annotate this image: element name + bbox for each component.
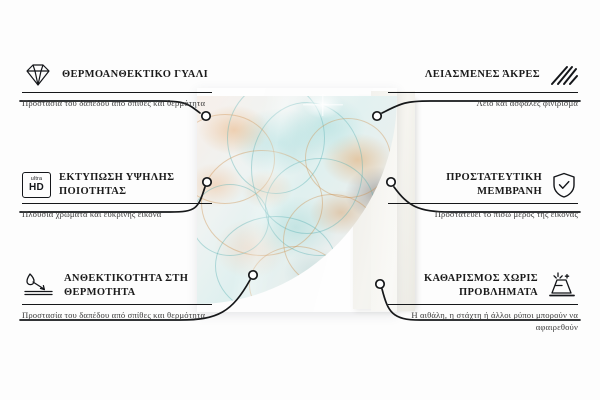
feature-header: ΑΝΘΕΚΤΙΚΟΤΗΤΑ ΣΤΗ ΘΕΡΜΟΤΗΤΑ <box>22 272 212 300</box>
badge-hd-label: HD <box>29 183 44 193</box>
feature-subtitle: Προστασία του δαπέδου από σπίθες και θερ… <box>22 310 212 322</box>
feature-title: ΛΕΙΑΣΜΕΝΕΣ ΆΚΡΕΣ <box>425 68 540 82</box>
polished-edges-icon <box>548 62 578 88</box>
feature-title: ΑΝΘΕΚΤΙΚΟΤΗΤΑ ΣΤΗ ΘΕΡΜΟΤΗΤΑ <box>64 272 212 300</box>
feature-subtitle: Προστατεύει το πίσω μέρος της εικόνας <box>388 209 578 221</box>
easy-cleaning-icon <box>546 272 578 300</box>
feature-polished-edges: ΛΕΙΑΣΜΕΝΕΣ ΆΚΡΕΣ Λείο και ασφαλές φινίρι… <box>388 62 578 110</box>
feature-heat-resistance: ΑΝΘΕΚΤΙΚΟΤΗΤΑ ΣΤΗ ΘΕΡΜΟΤΗΤΑ Προστασία το… <box>22 272 212 322</box>
feature-subtitle: Λείο και ασφαλές φινίρισμα <box>388 98 578 110</box>
shield-check-icon <box>550 171 578 199</box>
feature-high-quality-print: ultra HD ΕΚΤΥΠΩΣΗ ΥΨΗΛΗΣ ΠΟΙΟΤΗΤΑΣ Πλούσ… <box>22 171 212 220</box>
connector-dot-left-3 <box>249 271 257 279</box>
connector-dot-right-3 <box>376 280 384 288</box>
feature-header: ultra HD ΕΚΤΥΠΩΣΗ ΥΨΗΛΗΣ ΠΟΙΟΤΗΤΑΣ <box>22 171 212 199</box>
feature-heat-resistant-glass: ΘΕΡΜΟΑΝΘΕΚΤΙΚΟ ΓΥΑΛΙ Προστασία του δαπέδ… <box>22 62 212 110</box>
feature-header: ΠΡΟΣΤΑΤΕΥΤΙΚΗ ΜΕΜΒΡΑΝΗ <box>388 171 578 199</box>
feature-header: ΚΑΘΑΡΙΣΜΟΣ ΧΩΡΙΣ ΠΡΟΒΛΗΜΑΤΑ <box>388 272 578 300</box>
connector-dot-left-1 <box>202 112 210 120</box>
feature-divider <box>388 304 578 305</box>
feature-header: ΛΕΙΑΣΜΕΝΕΣ ΆΚΡΕΣ <box>388 62 578 88</box>
feature-divider <box>22 203 212 204</box>
feature-subtitle: Πλούσια χρώματα και ευκρινής εικόνα <box>22 209 212 221</box>
feature-divider <box>388 203 578 204</box>
feature-title: ΕΚΤΥΠΩΣΗ ΥΨΗΛΗΣ ΠΟΙΟΤΗΤΑΣ <box>59 171 212 199</box>
feature-subtitle: Προστασία του δαπέδου από σπίθες και θερ… <box>22 98 212 110</box>
feature-title: ΚΑΘΑΡΙΣΜΟΣ ΧΩΡΙΣ ΠΡΟΒΛΗΜΑΤΑ <box>388 272 538 300</box>
diamond-icon <box>22 62 54 88</box>
feature-subtitle: Η αιθάλη, η στάχτη ή άλλοι ρύποι μπορούν… <box>388 310 578 333</box>
feature-title: ΘΕΡΜΟΑΝΘΕΚΤΙΚΟ ΓΥΑΛΙ <box>62 68 208 82</box>
feature-title: ΠΡΟΣΤΑΤΕΥΤΙΚΗ ΜΕΜΒΡΑΝΗ <box>388 171 542 199</box>
feature-divider <box>22 304 212 305</box>
feature-protective-membrane: ΠΡΟΣΤΑΤΕΥΤΙΚΗ ΜΕΜΒΡΑΝΗ Προστατεύει το πί… <box>388 171 578 221</box>
heat-resistance-icon <box>22 272 56 300</box>
feature-divider <box>388 92 578 93</box>
connector-dot-right-1 <box>373 112 381 120</box>
ultra-hd-badge-icon: ultra HD <box>22 172 51 198</box>
infographic-canvas: ΘΕΡΜΟΑΝΘΕΚΤΙΚΟ ΓΥΑΛΙ Προστασία του δαπέδ… <box>0 0 600 400</box>
feature-divider <box>22 92 212 93</box>
feature-header: ΘΕΡΜΟΑΝΘΕΚΤΙΚΟ ΓΥΑΛΙ <box>22 62 212 88</box>
feature-easy-cleaning: ΚΑΘΑΡΙΣΜΟΣ ΧΩΡΙΣ ΠΡΟΒΛΗΜΑΤΑ Η αιθάλη, η … <box>388 272 578 333</box>
